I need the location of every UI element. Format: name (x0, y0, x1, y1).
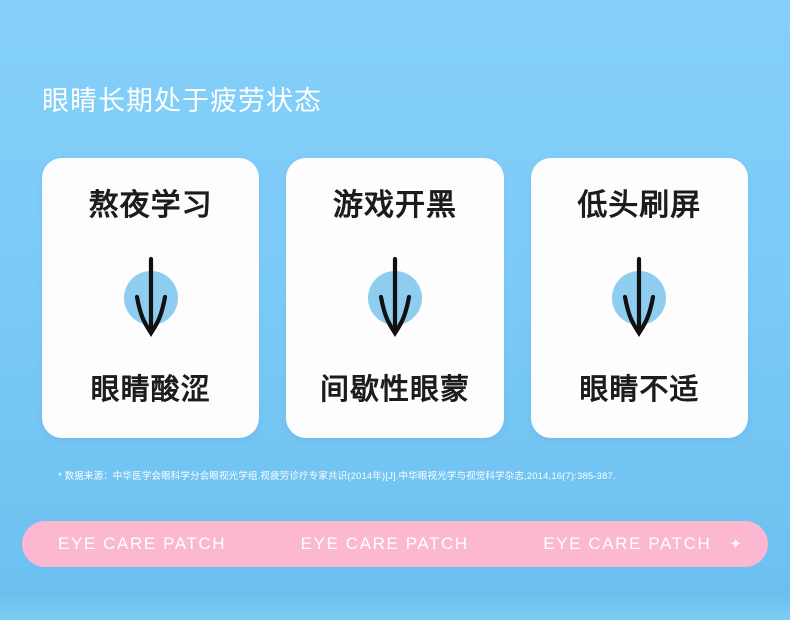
symptom-card-row: 熬夜学习 眼睛酸涩 游戏开黑 (42, 158, 748, 438)
card-cause-label: 游戏开黑 (333, 188, 457, 224)
card-effect-label: 间歇性眼蒙 (320, 372, 470, 408)
card-effect-label: 眼睛酸涩 (91, 372, 211, 408)
symptom-card: 熬夜学习 眼睛酸涩 (42, 158, 259, 438)
arrow-badge (612, 271, 666, 325)
symptom-card: 游戏开黑 间歇性眼蒙 (286, 158, 503, 438)
ribbon-tail: EYE CARE PATCH ✦ (543, 534, 742, 554)
poster-canvas: 眼睛长期处于疲劳状态 熬夜学习 眼睛酸涩 游戏开黑 (0, 0, 790, 620)
page-title: 眼睛长期处于疲劳状态 (42, 84, 322, 118)
card-cause-label: 低头刷屏 (577, 188, 701, 224)
arrow-badge (368, 271, 422, 325)
card-cause-label: 熬夜学习 (89, 188, 213, 224)
data-source-footnote: * 数据来源：中华医学会眼科学分会眼视光学组.视疲劳诊疗专家共识(2014年)[… (58, 470, 616, 484)
card-effect-label: 眼睛不适 (579, 372, 699, 408)
sparkle-icon: ✦ (729, 537, 742, 552)
symptom-card: 低头刷屏 眼睛不适 (531, 158, 748, 438)
ribbon-word: EYE CARE PATCH (301, 534, 469, 554)
ribbon-word: EYE CARE PATCH (58, 534, 226, 554)
brand-ribbon: EYE CARE PATCH EYE CARE PATCH EYE CARE P… (22, 521, 768, 567)
ribbon-word: EYE CARE PATCH (543, 534, 711, 554)
arrow-badge (124, 271, 178, 325)
